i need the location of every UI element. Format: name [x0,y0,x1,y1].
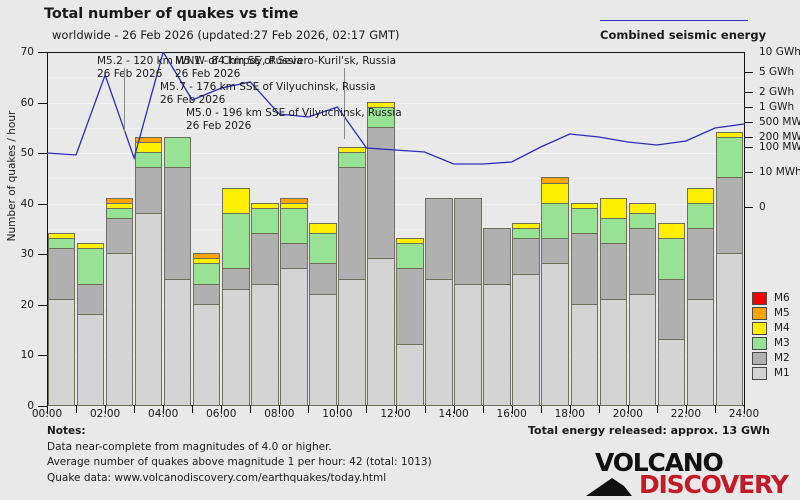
secondary-axis-tick-label: 0 [759,202,766,212]
secondary-axis-tick-label: 10 MWh [759,167,800,177]
secondary-axis-tick-label: 10 GWh [759,47,800,57]
legend-item-m6[interactable]: M6 [752,291,800,306]
secondary-axis-tick-label: 1 GWh [759,102,794,112]
annotation-text: M5.0 - 196 km SSE of Vilyuchinsk, Russia [186,107,402,119]
legend-swatch [752,367,767,380]
x-axis-tick-label: 18:00 [547,408,593,420]
y-axis-tick [38,103,47,104]
legend-label: M6 [774,292,790,305]
x-axis-tick-label: 12:00 [373,408,419,420]
total-energy-text: Total energy released: approx. 13 GWh [528,424,770,437]
legend-swatch [752,322,767,335]
y-axis-tick [38,52,47,53]
legend-item-m2[interactable]: M2 [752,351,800,366]
x-axis-tick-label: 04:00 [140,408,186,420]
secondary-axis-tick [744,137,753,138]
secondary-axis-tick-label: 500 MWh [759,117,800,127]
x-axis-tick [250,406,251,413]
annotation-date: 26 Feb 2026 [160,94,376,107]
x-axis-tick-label: 24:00 [721,408,767,420]
legend-label: M4 [774,322,790,335]
y-axis-tick [38,406,47,407]
x-axis-tick-label: 14:00 [431,408,477,420]
secondary-axis-tick [744,72,753,73]
x-axis-tick [599,406,600,413]
legend-label: M2 [774,352,790,365]
x-axis-tick [657,406,658,413]
chart-subtitle: worldwide - 26 Feb 2026 (updated:27 Feb … [52,28,400,42]
secondary-axis-tick-label: 2 GWh [759,87,794,97]
y-axis-tick [38,254,47,255]
legend-swatch [752,337,767,350]
legend-label: M5 [774,307,790,320]
legend-item-m4[interactable]: M4 [752,321,800,336]
x-axis-tick-label: 00:00 [24,408,70,420]
secondary-axis-tick [744,122,753,123]
x-axis-tick-label: 22:00 [663,408,709,420]
x-axis-tick-label: 06:00 [198,408,244,420]
x-axis-tick-label: 16:00 [489,408,535,420]
notes-block: Notes: Data near-complete from magnitude… [47,424,432,486]
x-axis-tick-label: 20:00 [605,408,651,420]
secondary-axis-tick [744,207,753,208]
x-axis-tick [366,406,367,413]
logo-text-discovery: DISCOVERY [639,472,788,497]
legend-label: M1 [774,367,790,380]
legend-swatch [752,307,767,320]
secondary-axis-tick-label: 100 MWh [759,142,800,152]
y-axis-tick [38,204,47,205]
x-axis-tick [308,406,309,413]
y-axis-tick [38,153,47,154]
magnitude-legend: M6M5M4M3M2M1 [752,291,800,381]
x-axis-tick-label: 02:00 [82,408,128,420]
annotation-text: M5.1 - 84 km SE of Severo-Kuril'sk, Russ… [175,55,396,67]
y-axis-label: Number of quakes / hour [6,96,18,256]
quake-annotation: M5.7 - 176 km SSE of Vilyuchinsk, Russia… [160,81,376,107]
legend-item-m1[interactable]: M1 [752,366,800,381]
legend-item-m3[interactable]: M3 [752,336,800,351]
secondary-axis-tick [744,92,753,93]
notes-heading: Notes: [47,424,432,440]
energy-axis-title: Combined seismic energy [600,28,766,42]
annotation-leader-line [124,68,125,133]
note-line-3: Quake data: www.volcanodiscovery.com/ear… [47,471,432,487]
legend-item-m5[interactable]: M5 [752,306,800,321]
y-axis-tick-label: 70 [0,47,34,57]
x-axis-tick [483,406,484,413]
page-title: Total number of quakes vs time [44,6,298,22]
x-axis-tick [541,406,542,413]
y-axis-tick [38,305,47,306]
secondary-axis-tick-label: 5 GWh [759,67,794,77]
y-axis-tick-label: 10 [0,350,34,360]
annotation-date: 26 Feb 2026 [186,120,402,133]
legend-swatch [752,292,767,305]
x-axis-tick [134,406,135,413]
x-axis-tick [425,406,426,413]
volcanodiscovery-logo: VOLCANO DISCOVERY [580,450,755,494]
secondary-axis-tick [744,107,753,108]
quake-annotation: M5.1 - 84 km SE of Severo-Kuril'sk, Russ… [175,55,396,81]
energy-line-series [47,52,744,406]
annotation-text: M5.7 - 176 km SSE of Vilyuchinsk, Russia [160,81,376,93]
annotation-date: 26 Feb 2026 [175,68,396,81]
x-axis-tick [715,406,716,413]
x-axis-tick [76,406,77,413]
secondary-axis-tick [744,147,753,148]
x-axis-tick [192,406,193,413]
note-line-2: Average number of quakes above magnitude… [47,455,432,471]
x-axis-tick-label: 08:00 [256,408,302,420]
quake-annotation: M5.0 - 196 km SSE of Vilyuchinsk, Russia… [186,107,402,133]
y-axis-tick-label: 20 [0,300,34,310]
x-axis-tick-label: 10:00 [314,408,360,420]
y-axis-right [744,52,745,406]
y-axis-tick [38,355,47,356]
energy-legend-line [600,20,748,21]
secondary-axis-tick [744,172,753,173]
legend-swatch [752,352,767,365]
legend-label: M3 [774,337,790,350]
chart-page: Total number of quakes vs time worldwide… [0,0,800,500]
note-line-1: Data near-complete from magnitudes of 4.… [47,440,432,456]
